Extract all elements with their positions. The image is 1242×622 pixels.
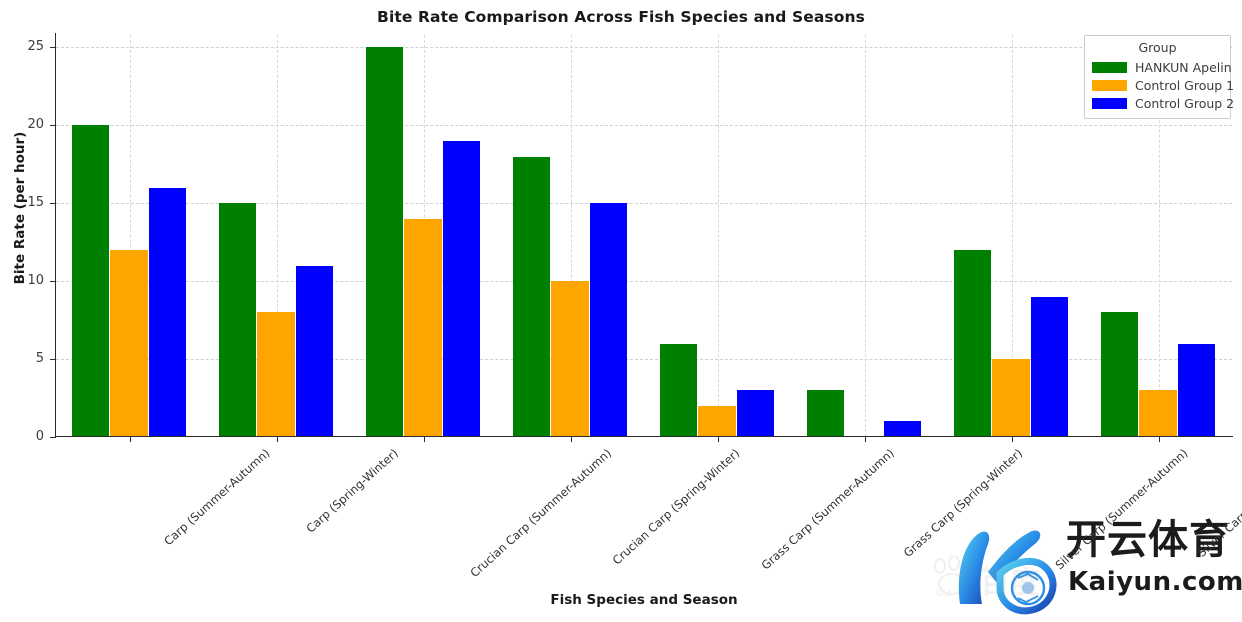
y-tick-mark xyxy=(50,203,55,204)
bar xyxy=(1101,312,1138,437)
y-tick-label: 15 xyxy=(0,196,44,209)
x-tick-mark xyxy=(865,437,866,442)
bar xyxy=(660,344,697,437)
y-gridline xyxy=(56,125,1232,126)
x-tick-label: Grass Carp (Spring-Winter) xyxy=(900,446,1024,560)
x-tick-mark xyxy=(1159,437,1160,442)
bar xyxy=(1139,390,1176,437)
x-tick-label: Crucian Carp (Summer-Autumn) xyxy=(467,446,614,580)
legend-swatch-control-group-1 xyxy=(1092,80,1127,91)
bar xyxy=(1031,297,1068,437)
x-tick-mark xyxy=(718,437,719,442)
x-tick-label: Silver Carp (Summer-Autumn) xyxy=(1052,446,1190,572)
bar xyxy=(443,141,480,437)
x-tick-mark xyxy=(1012,437,1013,442)
x-tick-mark xyxy=(424,437,425,442)
legend-label-hankun-apelin: HANKUN Apelin xyxy=(1135,60,1232,75)
x-tick-label: Carp (Spring-Winter) xyxy=(303,446,400,536)
bar xyxy=(551,281,588,437)
bar xyxy=(296,266,333,437)
x-axis-spine xyxy=(55,436,1233,437)
legend-swatch-hankun-apelin xyxy=(1092,62,1127,73)
bar xyxy=(219,203,256,437)
x-axis-label: Fish Species and Season xyxy=(56,592,1232,608)
chart-title: Bite Rate Comparison Across Fish Species… xyxy=(0,8,1242,26)
bar xyxy=(954,250,991,437)
x-tick-label: Silver Carp (Spring-Winter) xyxy=(1194,446,1242,560)
bar xyxy=(992,359,1029,437)
bar xyxy=(513,157,550,437)
legend-title: Group xyxy=(1092,40,1223,55)
y-tick-label: 5 xyxy=(0,352,44,365)
y-axis-spine xyxy=(55,33,56,438)
x-tick-label: Carp (Summer-Autumn) xyxy=(161,446,272,548)
legend-swatch-control-group-2 xyxy=(1092,98,1127,109)
y-tick-mark xyxy=(50,359,55,360)
x-tick-mark xyxy=(571,437,572,442)
bar xyxy=(149,188,186,437)
legend-label-control-group-2: Control Group 2 xyxy=(1135,96,1234,111)
bar xyxy=(257,312,294,437)
bar xyxy=(590,203,627,437)
y-tick-mark xyxy=(50,437,55,438)
y-tick-label: 0 xyxy=(0,430,44,443)
bar xyxy=(884,421,921,437)
legend-item-control-group-2[interactable]: Control Group 2 xyxy=(1092,94,1223,112)
legend-label-control-group-1: Control Group 1 xyxy=(1135,78,1234,93)
y-tick-mark xyxy=(50,281,55,282)
legend: Group HANKUN Apelin Control Group 1 Cont… xyxy=(1084,35,1231,119)
x-gridline xyxy=(718,35,719,437)
bar xyxy=(737,390,774,437)
bar xyxy=(698,406,735,437)
x-gridline xyxy=(865,35,866,437)
chart-figure: Bite Rate Comparison Across Fish Species… xyxy=(0,0,1242,622)
legend-item-control-group-1[interactable]: Control Group 1 xyxy=(1092,76,1223,94)
x-tick-mark xyxy=(277,437,278,442)
y-tick-label: 25 xyxy=(0,40,44,53)
legend-item-hankun-apelin[interactable]: HANKUN Apelin xyxy=(1092,58,1223,76)
bar xyxy=(404,219,441,437)
x-tick-label: Grass Carp (Summer-Autumn) xyxy=(758,446,896,572)
bar xyxy=(1178,344,1215,437)
bar xyxy=(72,125,109,437)
y-tick-mark xyxy=(50,47,55,48)
bar xyxy=(110,250,147,437)
bar xyxy=(366,47,403,437)
y-tick-label: 10 xyxy=(0,274,44,287)
y-gridline xyxy=(56,47,1232,48)
y-tick-label: 20 xyxy=(0,118,44,131)
bar xyxy=(807,390,844,437)
x-tick-mark xyxy=(130,437,131,442)
y-tick-mark xyxy=(50,125,55,126)
x-tick-label: Crucian Carp (Spring-Winter) xyxy=(609,446,742,567)
plot-area xyxy=(56,35,1232,437)
